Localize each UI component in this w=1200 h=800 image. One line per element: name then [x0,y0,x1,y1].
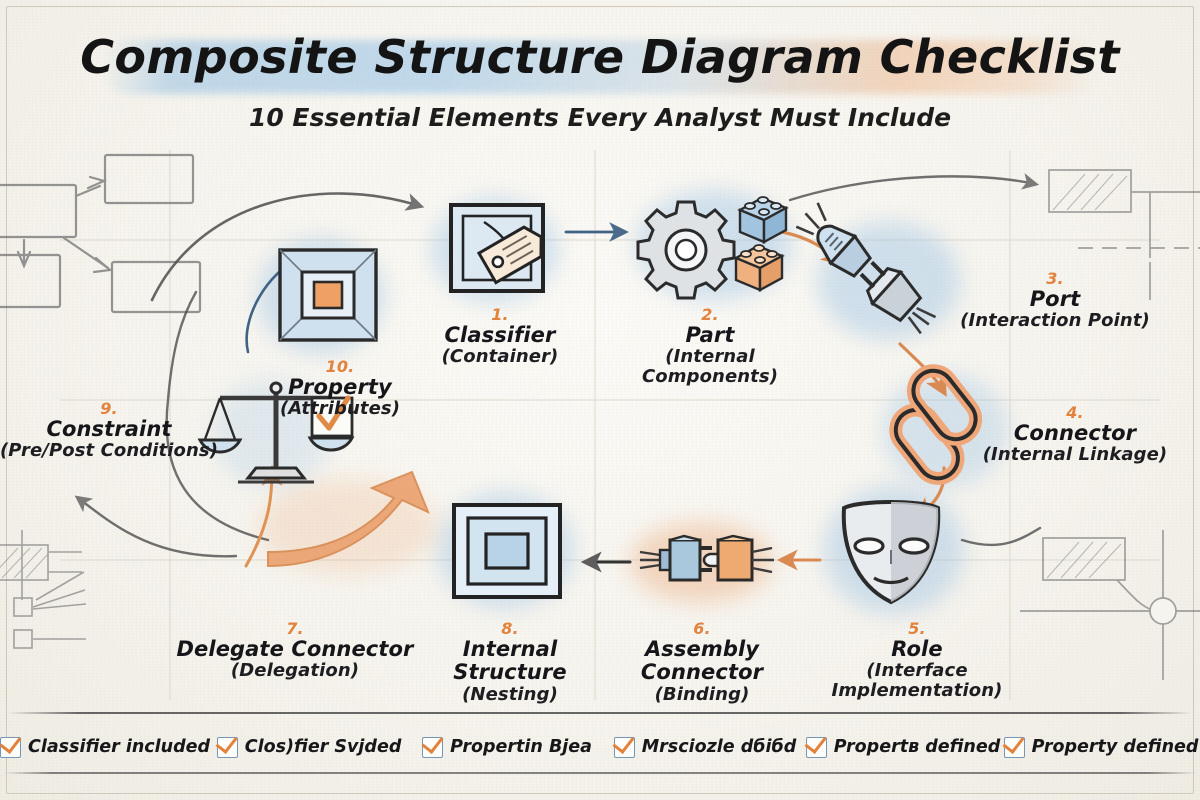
label-number: 4. [1066,403,1083,422]
label-name: Classifier [445,323,556,347]
strip-bottom-rule [4,772,1196,774]
label-name: Property [288,375,392,399]
label-name: Connector [1014,421,1136,445]
label-part: 2. Part (Internal Components) [610,288,810,406]
paired-plugs-icon [638,528,774,592]
label-sub: (Delegation) [165,661,425,681]
label-name: Role [891,637,942,661]
checklist-label: Classifier included [28,737,210,757]
label-name: Constraint [46,417,171,441]
nested-frames-icon [272,244,384,348]
label-sub: (Container) [400,347,600,367]
label-name: Delegate Connector [177,637,414,661]
checkbox-checked-icon[interactable] [0,737,21,758]
label-role: 5. Role (Interface Implementation) [822,602,1012,720]
label-name: Internal Structure [453,637,566,685]
label-sub: (Nesting) [430,685,590,705]
label-internal-structure: 8. Internal Structure (Nesting) [430,602,590,723]
page-subtitle: 10 Essential Elements Every Analyst Must… [0,103,1200,132]
label-number: 6. [693,619,710,638]
label-sub: (Attributes) [250,399,430,419]
checklist-label: Propertin Bjea [450,737,592,757]
checklist-item[interactable]: Property defined [1002,737,1200,758]
label-sub: (Binding) [612,685,792,705]
label-sub: (Interface Implementation) [822,661,1012,701]
label-number: 10. [326,357,355,376]
framed-tag-icon [444,200,554,300]
checklist-item[interactable]: Classifier included [0,737,210,758]
checklist-item[interactable]: Propertin Bjea [408,737,606,758]
checkbox-checked-icon[interactable] [614,737,635,758]
checkbox-checked-icon[interactable] [806,737,827,758]
checklist-label: Property defined [1032,737,1199,757]
checklist-item[interactable]: Mrsciozle dбiбd [606,737,804,758]
nested-boxes-icon [448,500,566,602]
theater-mask-icon [828,492,954,610]
label-number: 5. [908,619,925,638]
label-classifier: 1. Classifier (Container) [400,288,600,385]
label-sub: (Pre/Post Conditions) [0,441,224,461]
label-property: 10. Property (Attributes) [250,340,430,437]
label-assembly-connector: 6. Assembly Connector (Binding) [612,602,792,723]
checklist-strip: Classifier included Clos)fier Svjded Pro… [0,712,1200,800]
gear-bricks-icon [640,190,790,300]
checklist-label: Clos)fier Svjded [245,737,402,757]
label-sub: (Internal Linkage) [955,445,1195,465]
label-number: 7. [286,619,303,638]
label-connector: 4. Connector (Internal Linkage) [955,386,1195,483]
label-number: 9. [100,399,117,418]
checklist-label: Mrsciozle dбiбd [642,737,797,757]
label-name: Part [685,323,734,347]
label-number: 2. [701,305,718,324]
label-port: 3. Port (Interaction Point) [930,252,1180,349]
checkbox-checked-icon[interactable] [217,737,238,758]
checkbox-checked-icon[interactable] [422,737,443,758]
label-delegate-connector: 7. Delegate Connector (Delegation) [165,602,425,699]
checkbox-checked-icon[interactable] [1004,737,1025,758]
checklist-label: Propertв defined [834,737,1001,757]
label-name: Assembly Connector [641,637,763,685]
label-number: 8. [501,619,518,638]
infographic-canvas: Composite Structure Diagram Checklist 10… [0,0,1200,800]
strip-top-rule [8,712,1192,714]
label-constraint: 9. Constraint (Pre/Post Conditions) [0,382,224,479]
page-title: Composite Structure Diagram Checklist [0,30,1200,84]
label-sub: (Internal Components) [610,347,810,387]
label-name: Port [1030,287,1081,311]
checklist-item[interactable]: Propertв defined [804,737,1002,758]
label-number: 3. [1046,269,1063,288]
checklist-item[interactable]: Clos)fier Svjded [210,737,408,758]
label-sub: (Interaction Point) [930,311,1180,331]
checklist-items: Classifier included Clos)fier Svjded Pro… [0,724,1200,770]
label-number: 1. [491,305,508,324]
